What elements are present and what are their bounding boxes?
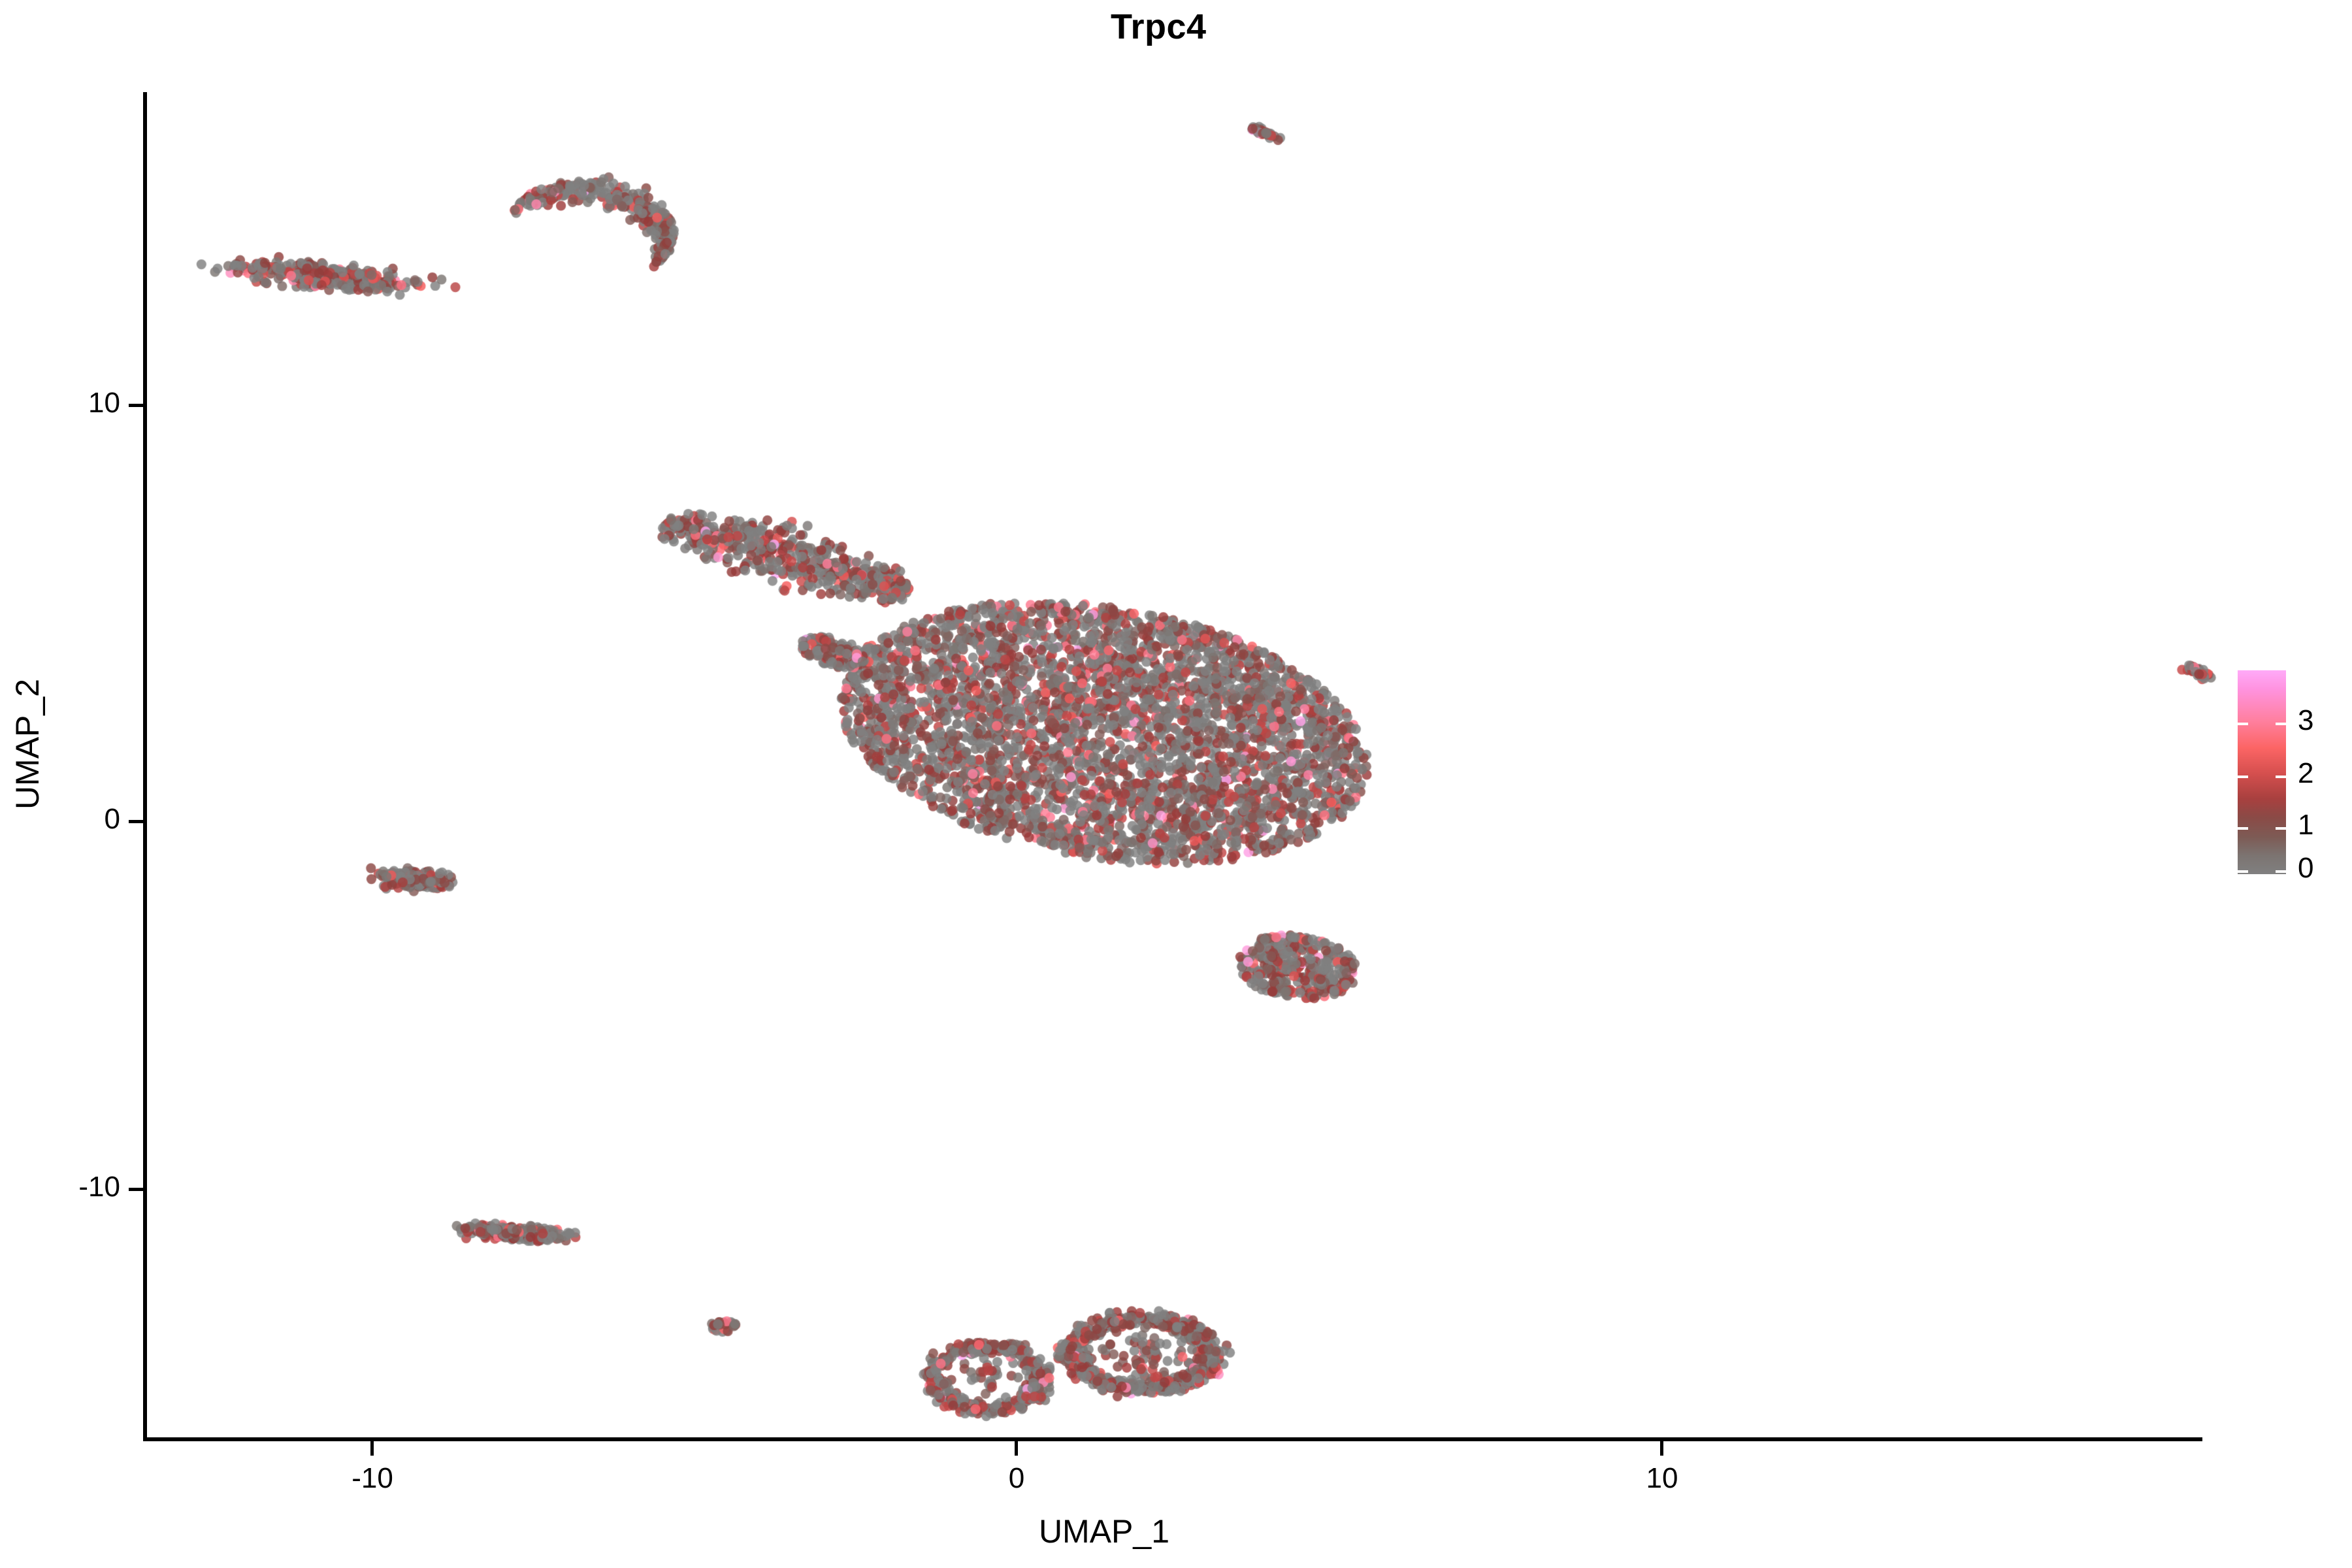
x-axis-line — [143, 1437, 2202, 1441]
y-axis-title: UMAP_2 — [8, 640, 46, 849]
x-axis-title: UMAP_1 — [973, 1512, 1235, 1550]
y-tick-mark-0 — [129, 820, 143, 823]
legend-label-2: 2 — [2298, 757, 2313, 790]
legend-label-3: 3 — [2298, 704, 2313, 737]
x-tick-mark-0 — [1015, 1441, 1018, 1456]
legend-tick-3-right — [2276, 723, 2286, 725]
legend-colorbar — [2238, 670, 2286, 874]
legend-label-0: 0 — [2298, 852, 2313, 885]
x-tick-mark-neg10 — [370, 1441, 374, 1456]
legend-tick-1-right — [2276, 827, 2286, 830]
color-legend: 3 2 1 0 — [2238, 670, 2342, 879]
y-tick-label-10: 10 — [16, 387, 120, 419]
legend-tick-2-right — [2276, 776, 2286, 778]
legend-tick-2-left — [2238, 776, 2248, 778]
x-tick-label-10: 10 — [1597, 1462, 1727, 1495]
legend-label-1: 1 — [2298, 809, 2313, 841]
y-tick-mark-neg10 — [129, 1188, 143, 1191]
umap-feature-plot: Trpc4 10 0 -10 -10 0 10 UMAP_2 UMAP_1 3 … — [0, 0, 2352, 1568]
legend-tick-1-left — [2238, 827, 2248, 830]
y-tick-mark-10 — [129, 404, 143, 407]
scatter-points-layer — [0, 0, 2352, 1568]
plot-title-text: Trpc4 — [1111, 7, 1207, 47]
y-axis-line — [143, 92, 147, 1441]
scatter-plot-area — [0, 0, 2352, 1568]
x-tick-label-0: 0 — [951, 1462, 1082, 1495]
legend-tick-0-right — [2276, 870, 2286, 873]
legend-tick-0-left — [2238, 870, 2248, 873]
y-tick-label-neg10: -10 — [16, 1171, 120, 1203]
legend-tick-3-left — [2238, 723, 2248, 725]
x-tick-mark-10 — [1660, 1441, 1663, 1456]
x-tick-label-neg10: -10 — [307, 1462, 438, 1495]
